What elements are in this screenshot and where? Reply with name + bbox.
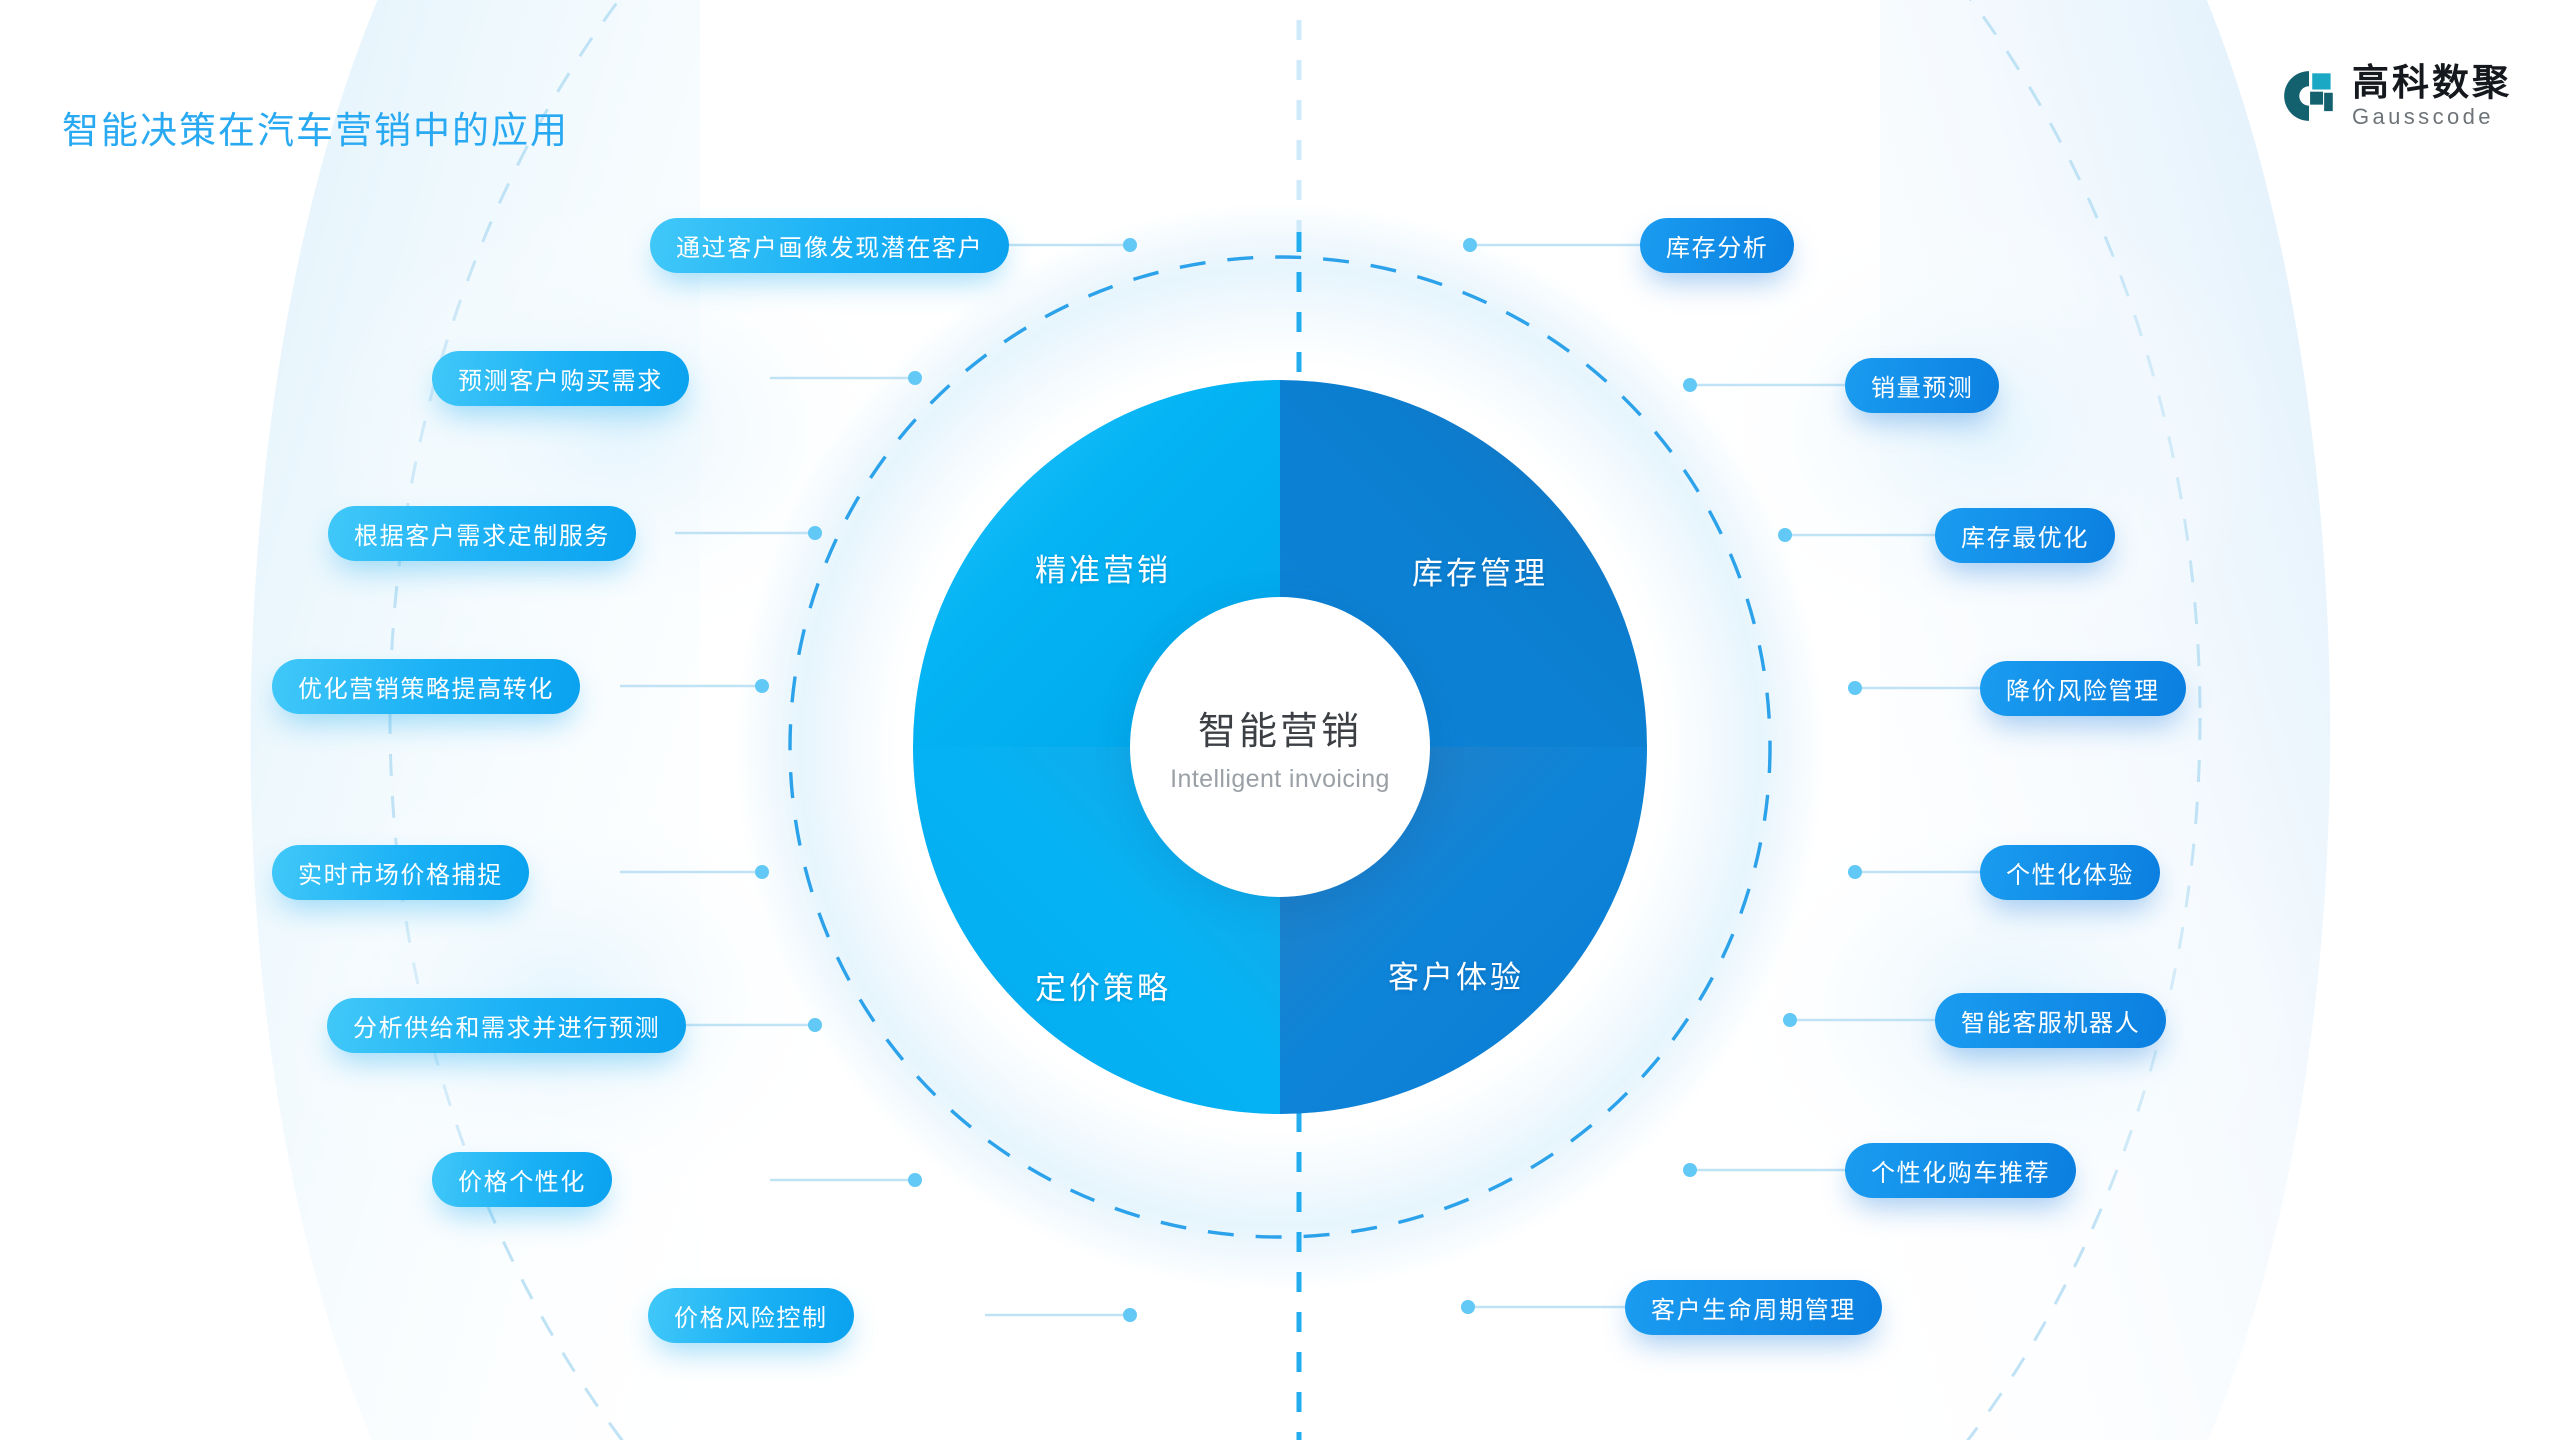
feature-pill-left-6[interactable]: 分析供给和需求并进行预测 (327, 998, 686, 1053)
brand-logo: 高科数聚 Gausscode (2282, 64, 2512, 128)
connector-node (755, 865, 769, 879)
connector-node (908, 371, 922, 385)
quadrant-label-top-right: 库存管理 (1412, 548, 1548, 593)
connector-node (1848, 681, 1862, 695)
connector-node (1123, 1308, 1137, 1322)
feature-pill-left-1[interactable]: 通过客户画像发现潜在客户 (650, 218, 1009, 273)
feature-pill-right-1[interactable]: 库存分析 (1640, 218, 1794, 273)
page-title: 智能决策在汽车营销中的应用 (62, 100, 569, 154)
feature-pill-right-4[interactable]: 降价风险管理 (1980, 661, 2186, 716)
connector-node (1683, 1163, 1697, 1177)
quadrant-label-top-left: 精准营销 (1035, 545, 1171, 590)
gausscode-g-mark-icon (2282, 69, 2336, 123)
center-title-en: Intelligent invoicing (1170, 765, 1390, 794)
feature-pill-right-2[interactable]: 销量预测 (1845, 358, 1999, 413)
feature-pill-right-6[interactable]: 智能客服机器人 (1935, 993, 2166, 1048)
quadrant-label-bottom-left: 定价策略 (1035, 963, 1171, 1008)
feature-pill-right-8[interactable]: 客户生命周期管理 (1625, 1280, 1882, 1335)
feature-pill-right-3[interactable]: 库存最优化 (1935, 508, 2115, 563)
slide-canvas: 智能决策在汽车营销中的应用 高科数聚 Gausscode 智能营销 Intell… (0, 0, 2560, 1440)
connector-node (1783, 1013, 1797, 1027)
connector-node (808, 526, 822, 540)
center-title-cn: 智能营销 (1198, 700, 1362, 755)
feature-pill-right-5[interactable]: 个性化体验 (1980, 845, 2160, 900)
connector-node (808, 1018, 822, 1032)
central-donut: 智能营销 Intelligent invoicing (913, 380, 1647, 1114)
connector-node (1683, 378, 1697, 392)
logo-text-cn: 高科数聚 (2352, 64, 2512, 101)
feature-pill-left-4[interactable]: 优化营销策略提高转化 (272, 659, 580, 714)
quadrant-label-bottom-right: 客户体验 (1388, 952, 1524, 997)
feature-pill-left-7[interactable]: 价格个性化 (432, 1152, 612, 1207)
connector-node (908, 1173, 922, 1187)
feature-pill-right-7[interactable]: 个性化购车推荐 (1845, 1143, 2076, 1198)
feature-pill-left-5[interactable]: 实时市场价格捕捉 (272, 845, 529, 900)
connector-node (1461, 1300, 1475, 1314)
connector-node (755, 679, 769, 693)
connector-node (1123, 238, 1137, 252)
connector-node (1778, 528, 1792, 542)
feature-pill-left-8[interactable]: 价格风险控制 (648, 1288, 854, 1343)
connector-node (1463, 238, 1477, 252)
logo-text-en: Gausscode (2352, 106, 2512, 128)
donut-center-hub: 智能营销 Intelligent invoicing (1130, 597, 1430, 897)
feature-pill-left-3[interactable]: 根据客户需求定制服务 (328, 506, 636, 561)
connector-node (1848, 865, 1862, 879)
feature-pill-left-2[interactable]: 预测客户购买需求 (432, 351, 689, 406)
